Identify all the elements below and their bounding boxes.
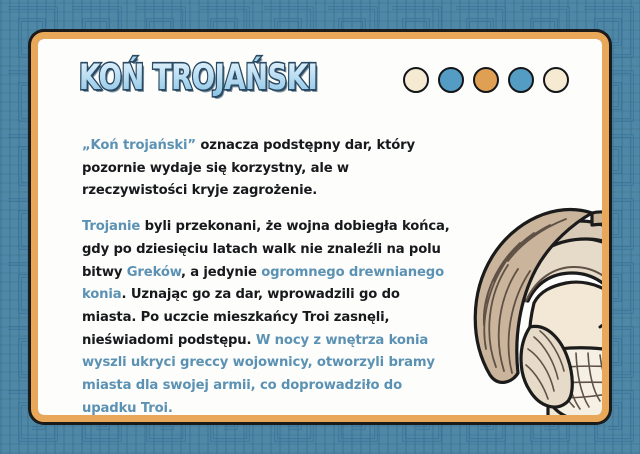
dot-orange (473, 67, 499, 93)
poster-page: KOŃ TROJAŃSKI KOŃ TROJAŃSKI „Koń trojańs… (0, 0, 640, 454)
title-row: KOŃ TROJAŃSKI KOŃ TROJAŃSKI (79, 61, 569, 96)
highlighted-phrase: Trojanie (82, 219, 140, 234)
dot-cream-1 (403, 67, 429, 93)
dot-cream-2 (543, 67, 569, 93)
greek-warrior-bust-icon (456, 207, 602, 415)
dot-blue-1 (438, 67, 464, 93)
page-title-text: KOŃ TROJAŃSKI (79, 61, 318, 96)
body-phrase: , a jedynie (181, 265, 261, 280)
highlighted-phrase: Greków (127, 265, 181, 280)
dot-blue-2 (508, 67, 534, 93)
decorative-dots (403, 67, 569, 93)
paragraph-story: Trojanie byli przekonani, że wojna dobie… (82, 216, 450, 415)
highlighted-phrase: „Koń trojański” (82, 138, 196, 153)
page-title: KOŃ TROJAŃSKI KOŃ TROJAŃSKI (79, 61, 385, 96)
card-inner-surface: KOŃ TROJAŃSKI KOŃ TROJAŃSKI „Koń trojańs… (38, 39, 602, 415)
paragraph-definition: „Koń trojański” oznacza podstępny dar, k… (82, 135, 450, 203)
content-card: KOŃ TROJAŃSKI KOŃ TROJAŃSKI „Koń trojańs… (31, 32, 609, 422)
body-text: „Koń trojański” oznacza podstępny dar, k… (82, 135, 450, 415)
